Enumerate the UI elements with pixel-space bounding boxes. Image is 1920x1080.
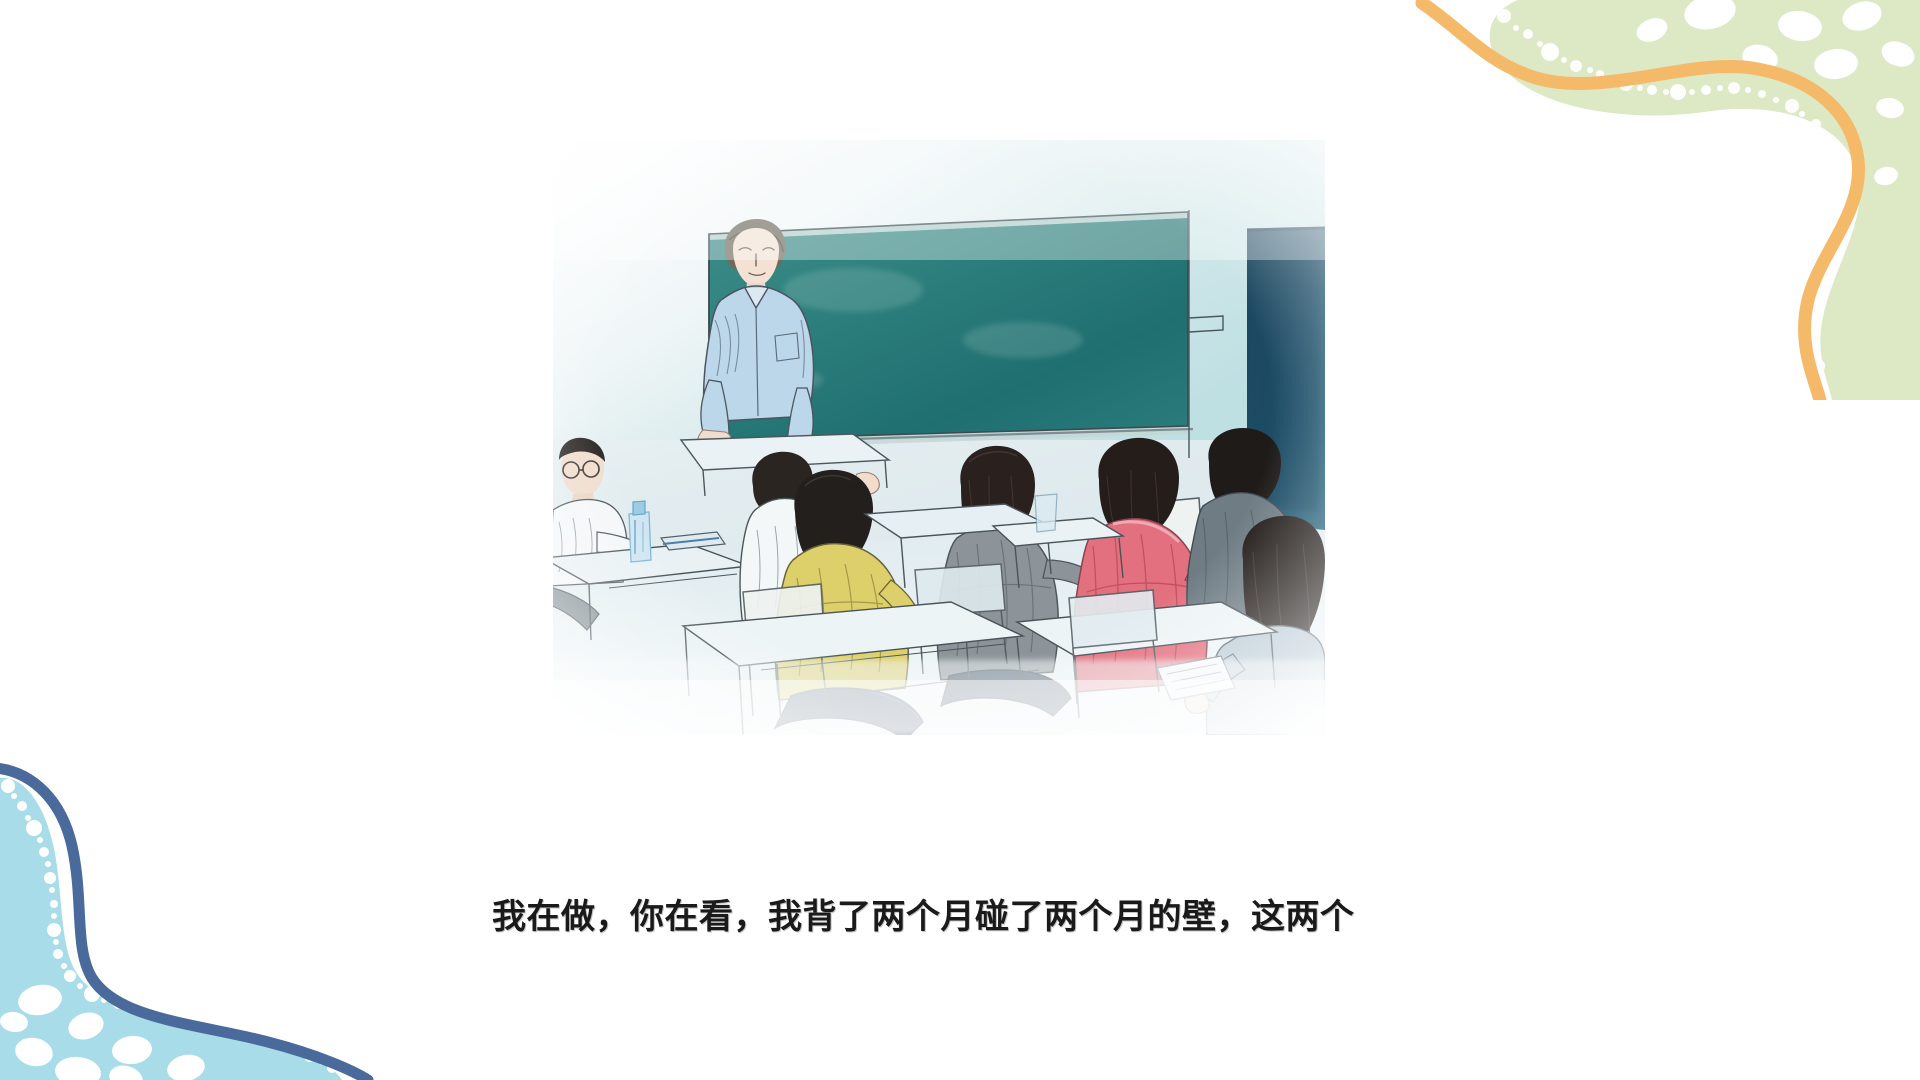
cyan-blob-shape [0,778,342,1080]
green-blob-texture [1497,9,1849,395]
decoration-top-right [1400,0,1920,400]
white-dots-group-bl [0,981,207,1080]
illustration-top-fade [553,140,1325,260]
orange-wave-line [1422,3,1859,400]
cyan-blob-texture [1,779,337,1073]
caption-line-1: 我在做，你在看，我背了两个月碰了两个月的壁，这两个 [492,884,1432,950]
caption-text-block: 我在做，你在看，我背了两个月碰了两个月的壁，这两个 月中各大考试中英语仍然次次不… [492,752,1432,1080]
classroom-scene [553,140,1325,735]
classroom-illustration [553,140,1325,735]
white-dots-group [1633,0,1918,188]
decoration-bottom-left [0,660,430,1080]
illustration-bottom-fade [553,680,1325,735]
slide-canvas: 我在做，你在看，我背了两个月碰了两个月的壁，这两个 月中各大考试中英语仍然次次不… [0,0,1920,1080]
blue-wave-line [0,768,368,1080]
green-blob-shape [1490,0,1920,400]
